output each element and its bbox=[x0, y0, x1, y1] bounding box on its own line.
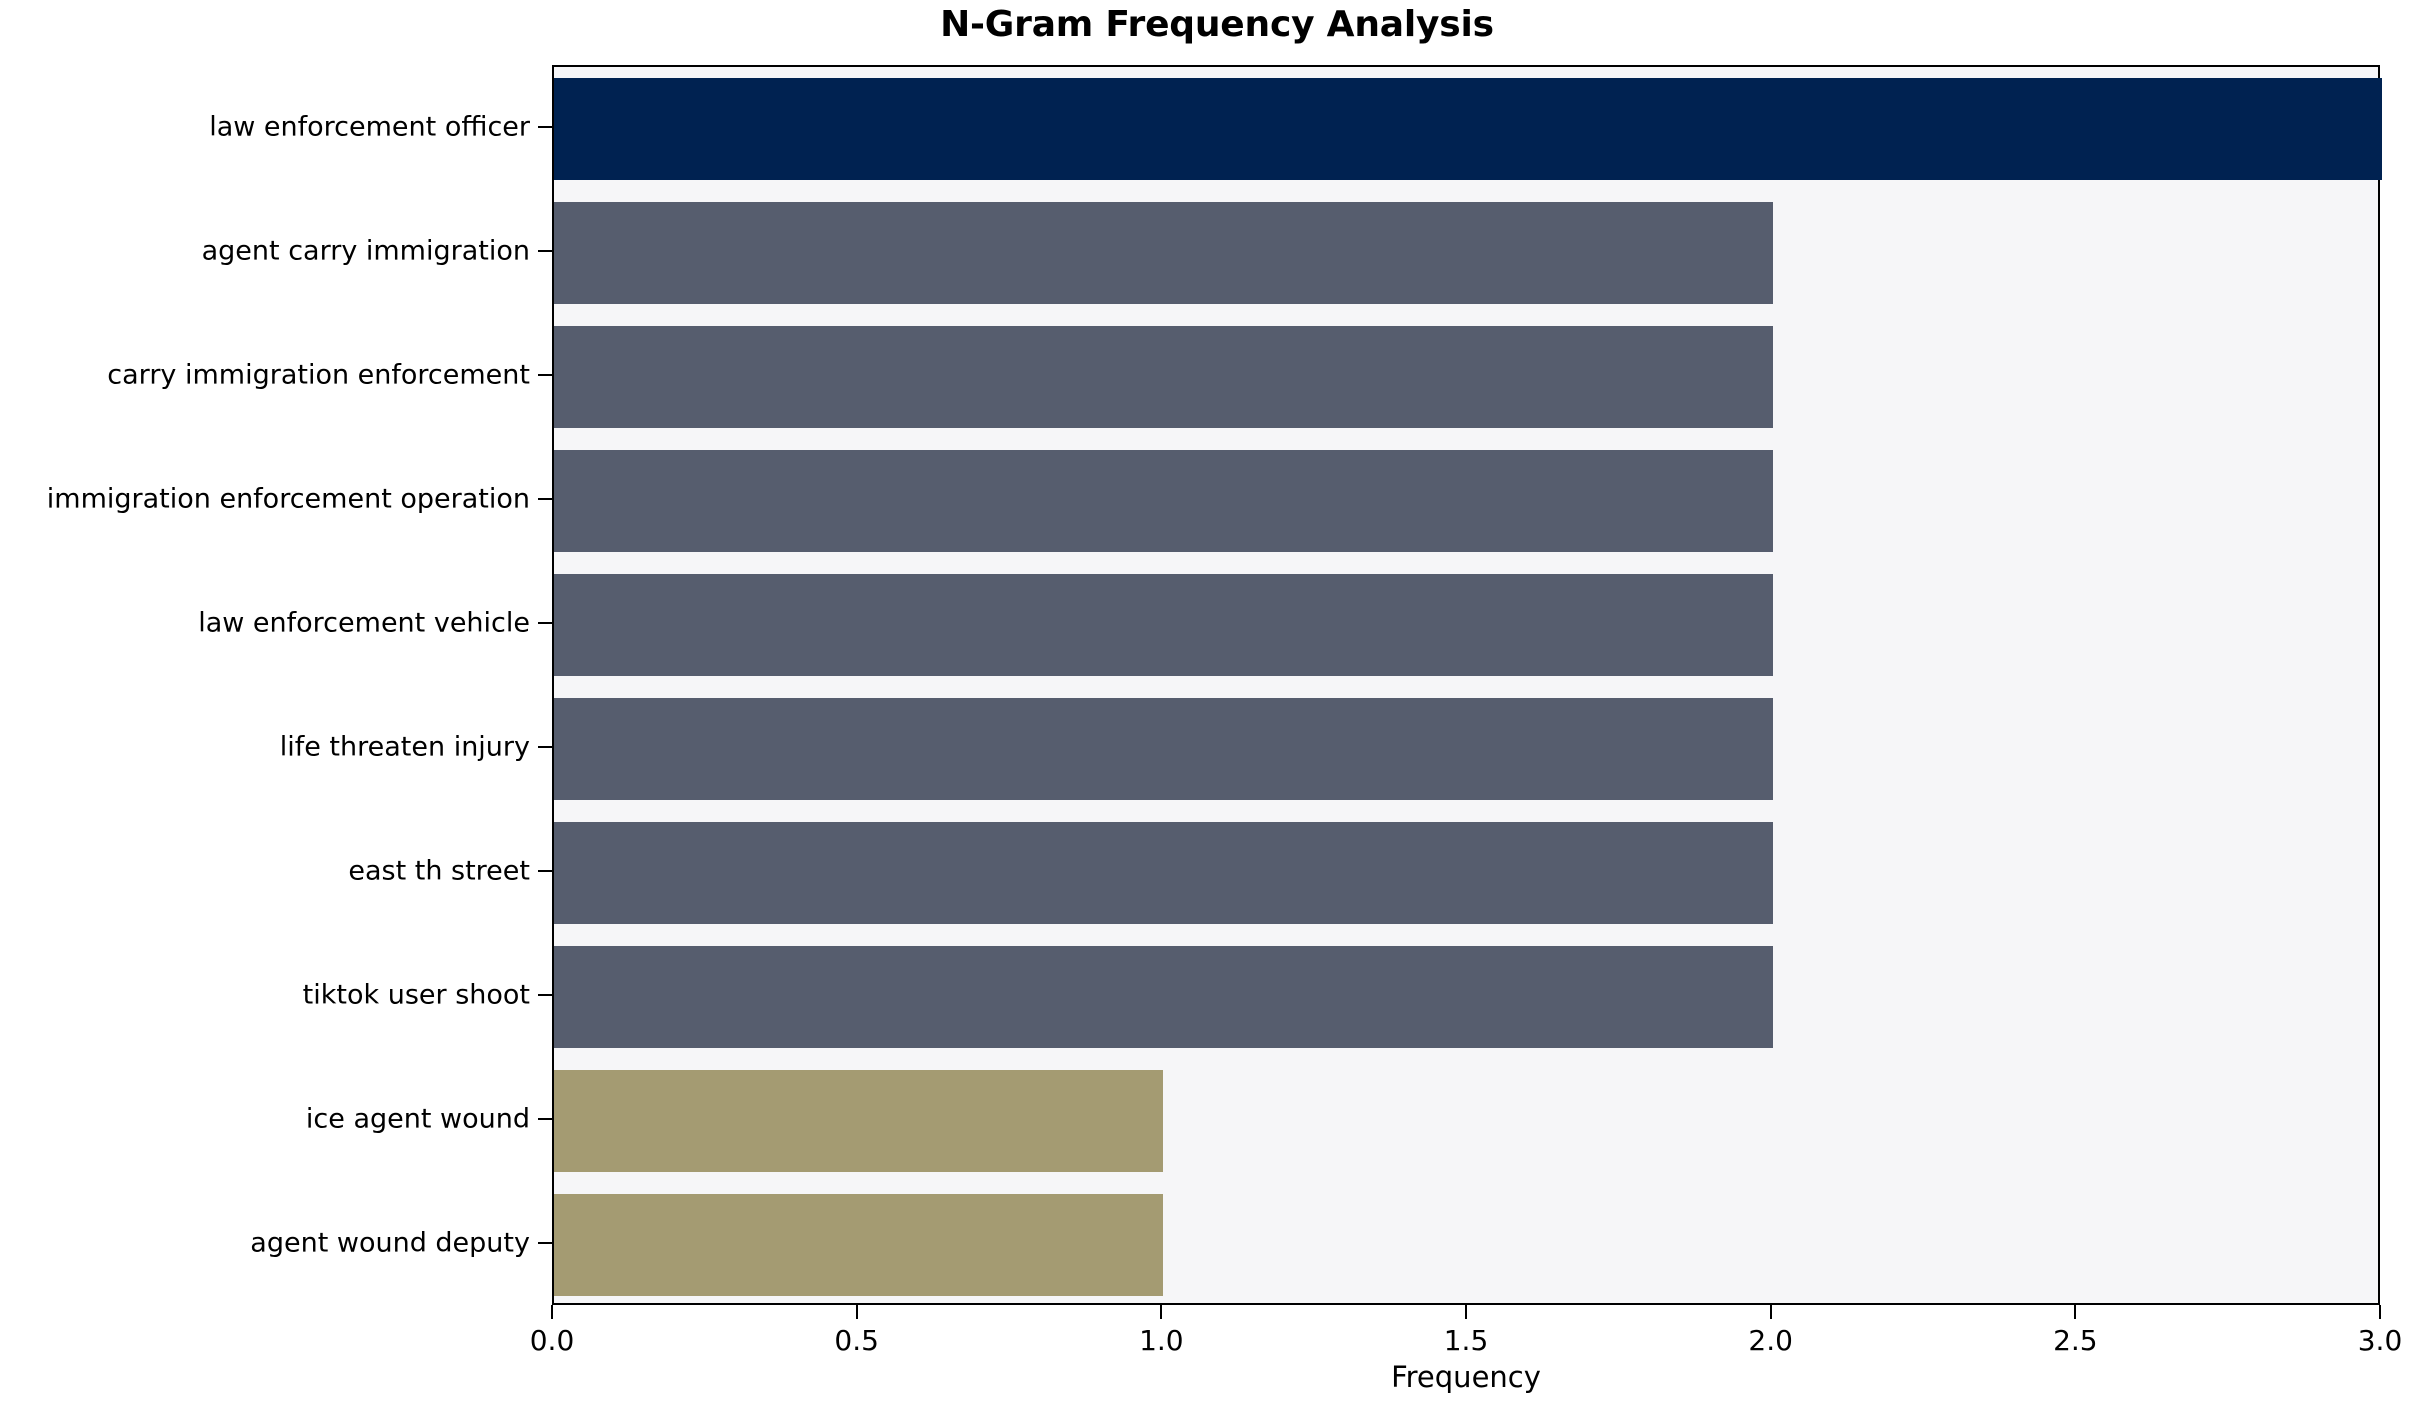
bar bbox=[554, 450, 1773, 552]
x-tick-label: 1.5 bbox=[1444, 1327, 1489, 1355]
bar bbox=[554, 1194, 1163, 1296]
bar bbox=[554, 326, 1773, 428]
x-tick-mark bbox=[1465, 1305, 1467, 1319]
y-tick-mark bbox=[538, 498, 552, 500]
x-axis-title: Frequency bbox=[552, 1360, 2380, 1394]
bar bbox=[554, 698, 1773, 800]
y-tick-label: tiktok user shoot bbox=[303, 982, 530, 1009]
x-tick-mark bbox=[2379, 1305, 2381, 1319]
x-tick-mark bbox=[2074, 1305, 2076, 1319]
y-tick-label: law enforcement vehicle bbox=[198, 610, 530, 637]
y-tick-label: agent carry immigration bbox=[202, 238, 530, 265]
chart-title: N-Gram Frequency Analysis bbox=[0, 4, 2434, 45]
y-tick-label: immigration enforcement operation bbox=[47, 486, 530, 513]
bars-layer bbox=[554, 67, 2378, 1303]
y-tick-label: carry immigration enforcement bbox=[107, 362, 530, 389]
x-tick-mark bbox=[856, 1305, 858, 1319]
y-axis: law enforcement officeragent carry immig… bbox=[0, 65, 552, 1305]
y-tick-label: ice agent wound bbox=[306, 1106, 530, 1133]
x-tick-label: 3.0 bbox=[2358, 1327, 2403, 1355]
x-tick-label: 1.0 bbox=[1139, 1327, 1184, 1355]
y-tick-mark bbox=[538, 870, 552, 872]
bar bbox=[554, 574, 1773, 676]
y-tick-mark bbox=[538, 1242, 552, 1244]
x-tick-label: 0.0 bbox=[530, 1327, 575, 1355]
x-tick-label: 2.0 bbox=[1748, 1327, 1793, 1355]
plot-area bbox=[552, 65, 2380, 1305]
y-tick-label: life threaten injury bbox=[280, 734, 530, 761]
x-tick-label: 2.5 bbox=[2053, 1327, 2098, 1355]
bar bbox=[554, 78, 2382, 180]
y-tick-label: agent wound deputy bbox=[250, 1230, 530, 1257]
bar bbox=[554, 202, 1773, 304]
y-tick-mark bbox=[538, 250, 552, 252]
bar bbox=[554, 946, 1773, 1048]
x-tick-mark bbox=[551, 1305, 553, 1319]
x-tick-mark bbox=[1160, 1305, 1162, 1319]
y-tick-mark bbox=[538, 126, 552, 128]
y-tick-mark bbox=[538, 622, 552, 624]
y-tick-mark bbox=[538, 994, 552, 996]
y-tick-mark bbox=[538, 1118, 552, 1120]
bar bbox=[554, 822, 1773, 924]
bar bbox=[554, 1070, 1163, 1172]
y-tick-label: law enforcement officer bbox=[209, 114, 530, 141]
x-tick-label: 0.5 bbox=[834, 1327, 879, 1355]
y-tick-label: east th street bbox=[348, 858, 530, 885]
y-tick-mark bbox=[538, 746, 552, 748]
x-tick-mark bbox=[1770, 1305, 1772, 1319]
y-tick-mark bbox=[538, 374, 552, 376]
chart-figure: N-Gram Frequency Analysis law enforcemen… bbox=[0, 0, 2434, 1414]
